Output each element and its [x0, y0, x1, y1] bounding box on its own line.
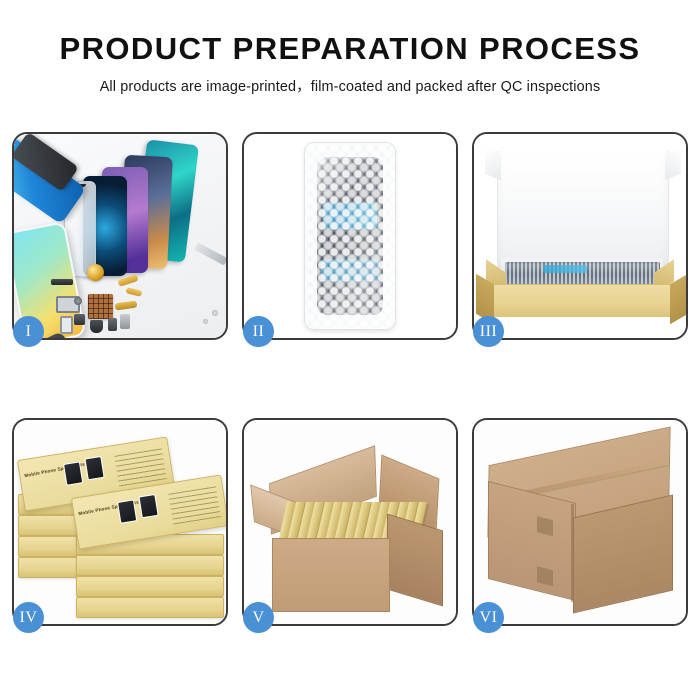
step-badge-6: VI: [473, 602, 504, 633]
step-badge-3: III: [473, 316, 504, 347]
box-front-panel-icon: [492, 284, 672, 317]
stacked-box-item: [76, 597, 224, 618]
step-badge-2: II: [243, 316, 274, 347]
step-badge-4: IV: [13, 602, 44, 633]
logic-board-chip-icon: [88, 294, 113, 319]
box-stack-icon: Mobile Phone Spare Parts Mobile Phone Sp…: [18, 442, 224, 620]
carton-front-panel-icon: [272, 538, 390, 612]
box-print-window-a: [117, 499, 137, 523]
box-print-text-lines: [168, 483, 221, 524]
tweezers-icon: [194, 242, 226, 265]
sealed-carton-illustration: [474, 420, 686, 624]
carton-tape-mark-lower: [537, 566, 553, 586]
step-panel-4: Mobile Phone Spare Parts Mobile Phone Sp…: [12, 418, 228, 626]
step-badge-1: I: [13, 316, 44, 347]
flex-cable-b-icon: [126, 287, 143, 297]
sim-tray-icon: [60, 316, 73, 334]
box-print-text-lines: [114, 445, 167, 486]
step-panel-1: I: [12, 132, 228, 340]
step-badge-5: V: [243, 602, 274, 633]
flex-cable-c-icon: [115, 301, 138, 311]
bubble-wrap-illustration: [244, 134, 456, 338]
step-panel-5: V: [242, 418, 458, 626]
screw-a-icon: [212, 310, 218, 316]
step-panel-2: II: [242, 132, 458, 340]
shield-plate-icon: [120, 314, 130, 329]
plastic-sheen-icon: [305, 143, 395, 329]
box-print-window-b: [138, 494, 158, 518]
inner-box-illustration: [474, 134, 686, 338]
button-part-icon: [74, 297, 82, 305]
box-print-window-b: [84, 456, 104, 480]
speaker-module-icon: [51, 279, 73, 285]
sealed-carton-left-face-icon: [488, 481, 576, 601]
taptic-engine-icon: [90, 320, 103, 333]
carton-tape-mark-upper: [537, 516, 553, 536]
page-subtitle: All products are image-printed，film-coat…: [0, 75, 700, 96]
process-step-grid: I II III: [12, 132, 688, 626]
stacked-box-item: [76, 555, 224, 576]
carton-filling-illustration: [244, 420, 456, 624]
step-panel-3: III: [472, 132, 688, 340]
box-print-window-a: [63, 461, 83, 485]
step-panel-6: VI: [472, 418, 688, 626]
wireless-charging-coil-icon: [87, 264, 104, 281]
page-header: PRODUCT PREPARATION PROCESS All products…: [0, 0, 700, 96]
camera-module-icon: [74, 314, 85, 325]
connector-part-icon: [108, 318, 117, 331]
flex-cable-a-icon: [117, 274, 138, 287]
phone-parts-illustration: [14, 134, 226, 338]
carton-side-panel-icon: [387, 513, 443, 606]
box-lid-icon: [497, 151, 669, 269]
screw-b-icon: [203, 319, 208, 324]
stacked-box-item: [76, 576, 224, 597]
page-title: PRODUCT PREPARATION PROCESS: [0, 33, 700, 66]
bubble-wrap-pouch-icon: [304, 142, 396, 330]
stacked-boxes-illustration: Mobile Phone Spare Parts Mobile Phone Sp…: [14, 420, 226, 624]
